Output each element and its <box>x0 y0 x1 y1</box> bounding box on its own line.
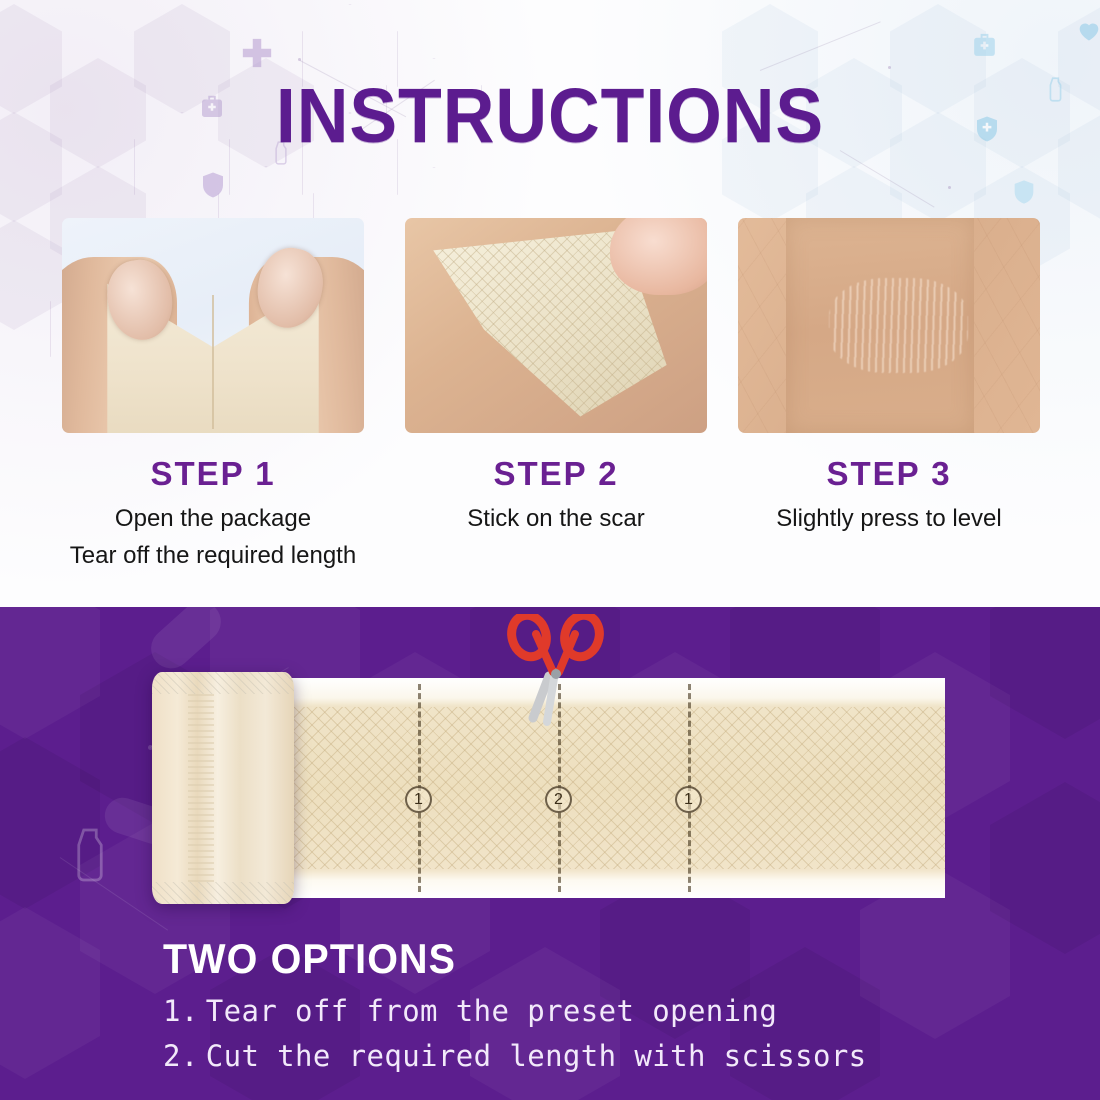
option-1-number: 1. <box>163 994 199 1028</box>
option-item-2: 2. Cut the required length with scissors <box>163 1039 867 1073</box>
tape-roll <box>152 672 294 904</box>
tape-marker-1: 1 <box>405 786 432 813</box>
step-card-3: STEP 3 Slightly press to level <box>738 218 1040 535</box>
scissors-icon <box>503 614 607 726</box>
cross-icon <box>240 36 274 70</box>
option-2-text: Cut the required length with scissors <box>206 1039 867 1073</box>
header-section: INSTRUCTIONS STEP 1 Open the package Tea… <box>0 0 1100 607</box>
tape-strip: 1 2 1 <box>290 678 945 898</box>
tape-marker-3: 1 <box>675 786 702 813</box>
step-photo-3 <box>738 218 1040 433</box>
bottle-icon <box>60 817 120 893</box>
two-options-block: TWO OPTIONS 1. Tear off from the preset … <box>163 935 867 1073</box>
step-title-3: STEP 3 <box>738 455 1040 493</box>
step-caption-1-line1: Open the package <box>62 504 364 535</box>
shield-cross-icon <box>1010 176 1038 208</box>
tape-marker-2: 2 <box>545 786 572 813</box>
step-card-1: STEP 1 Open the package Tear off the req… <box>62 218 364 571</box>
option-1-text: Tear off from the preset opening <box>206 994 778 1028</box>
page-title: INSTRUCTIONS <box>39 72 1062 161</box>
option-item-1: 1. Tear off from the preset opening <box>163 994 867 1028</box>
heart-icon <box>1074 16 1100 44</box>
step-photo-2 <box>405 218 707 433</box>
shield-cross-icon <box>198 168 228 202</box>
two-options-title: TWO OPTIONS <box>163 935 824 983</box>
step-caption-3-line1: Slightly press to level <box>738 504 1040 535</box>
steps-row: STEP 1 Open the package Tear off the req… <box>0 218 1100 588</box>
step-title-2: STEP 2 <box>405 455 707 493</box>
step-title-1: STEP 1 <box>62 455 364 493</box>
option-2-number: 2. <box>163 1039 199 1073</box>
first-aid-bag-icon <box>968 30 1001 61</box>
step-caption-1-line2: Tear off the required length <box>62 541 364 572</box>
step-photo-1 <box>62 218 364 433</box>
step-card-2: STEP 2 Stick on the scar <box>405 218 707 535</box>
step-caption-2-line1: Stick on the scar <box>405 504 707 535</box>
